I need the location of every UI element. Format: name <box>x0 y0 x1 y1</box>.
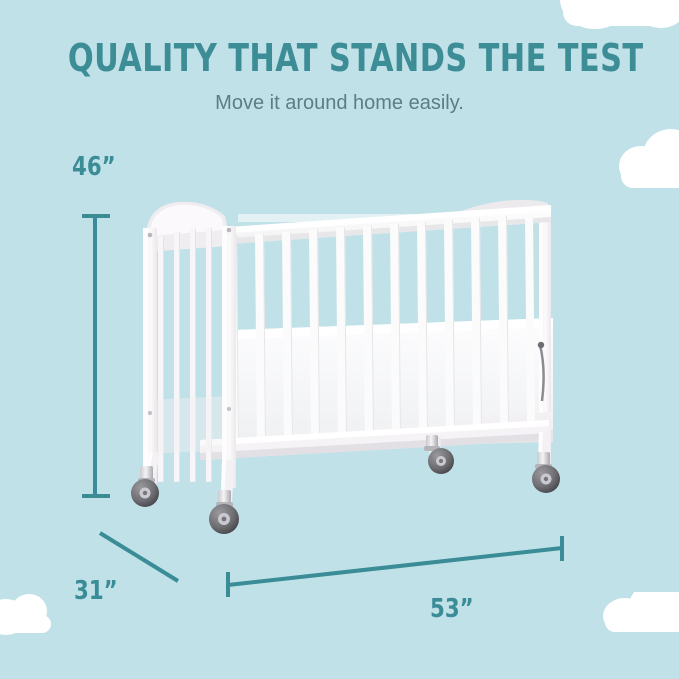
crib-caster-back-right <box>532 452 560 493</box>
height-dimension-label: 46” <box>72 152 116 182</box>
depth-dimension-label: 31” <box>74 576 118 606</box>
crib-caster-front-right <box>209 490 239 534</box>
width-dimension-label: 53” <box>430 594 474 624</box>
infographic-canvas: QUALITY THAT STANDS THE TEST Move it aro… <box>0 0 679 679</box>
crib-left-end-panel <box>143 202 236 488</box>
